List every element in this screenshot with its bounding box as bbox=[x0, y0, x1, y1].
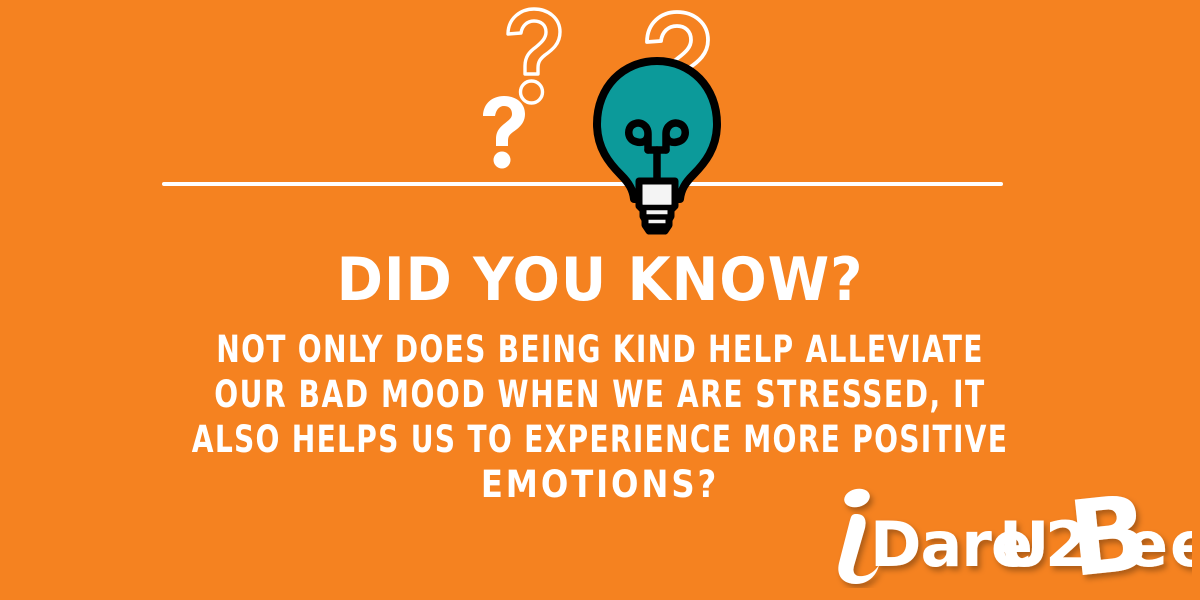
lightbulb-icon bbox=[597, 61, 717, 231]
question-mark-solid-left bbox=[483, 96, 525, 169]
body-line: ALSO HELPS US TO EXPERIENCE MORE POSITIV… bbox=[144, 417, 1057, 462]
page-title: DID YOU KNOW? bbox=[42, 250, 1158, 310]
logo-text-ee: ee bbox=[1126, 508, 1192, 581]
lightbulb-illustration bbox=[455, 0, 755, 250]
body-line: NOT ONLY DOES BEING KIND HELP ALLEVIATE bbox=[144, 327, 1057, 372]
poster-canvas: DID YOU KNOW? NOT ONLY DOES BEING KIND H… bbox=[0, 0, 1200, 600]
body-line: OUR BAD MOOD WHEN WE ARE STRESSED, IT bbox=[144, 372, 1057, 417]
body-text: NOT ONLY DOES BEING KIND HELP ALLEVIATE … bbox=[60, 327, 1140, 507]
question-mark-outline-top-left bbox=[508, 9, 560, 103]
brand-logo[interactable]: Dare U 2 B ee bbox=[826, 484, 1192, 588]
logo-text-u: U bbox=[999, 508, 1049, 581]
